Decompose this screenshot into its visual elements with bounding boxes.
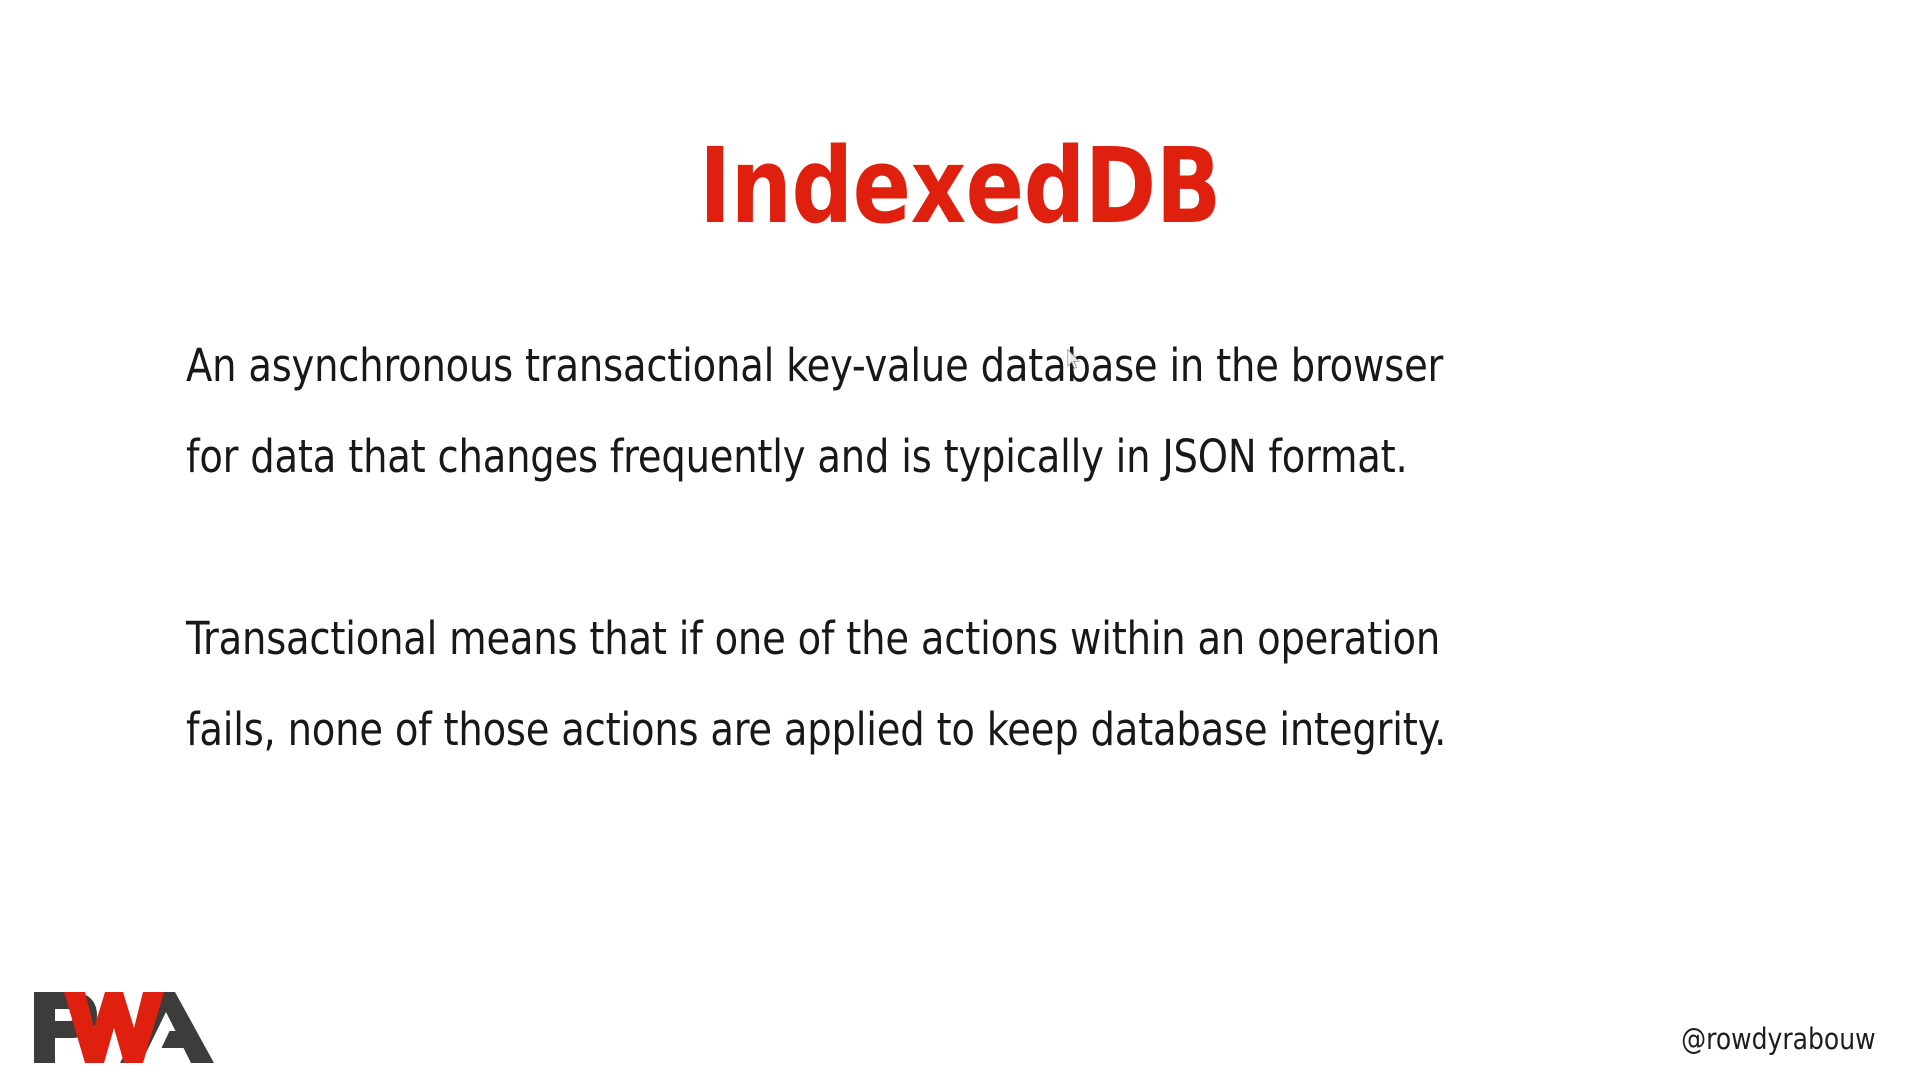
slide-canvas: IndexedDB An asynchronous transactional … <box>0 0 1920 1080</box>
page-title: IndexedDB <box>77 126 1843 246</box>
pwa-logo <box>28 984 214 1064</box>
paragraph-1: An asynchronous transactional key-value … <box>186 320 1668 502</box>
paragraph-2: Transactional means that if one of the a… <box>186 593 1668 775</box>
pwa-logo-letter-w <box>64 992 164 1063</box>
author-handle: @rowdyrabouw <box>1682 1022 1876 1056</box>
body-copy: An asynchronous transactional key-value … <box>186 320 1668 775</box>
